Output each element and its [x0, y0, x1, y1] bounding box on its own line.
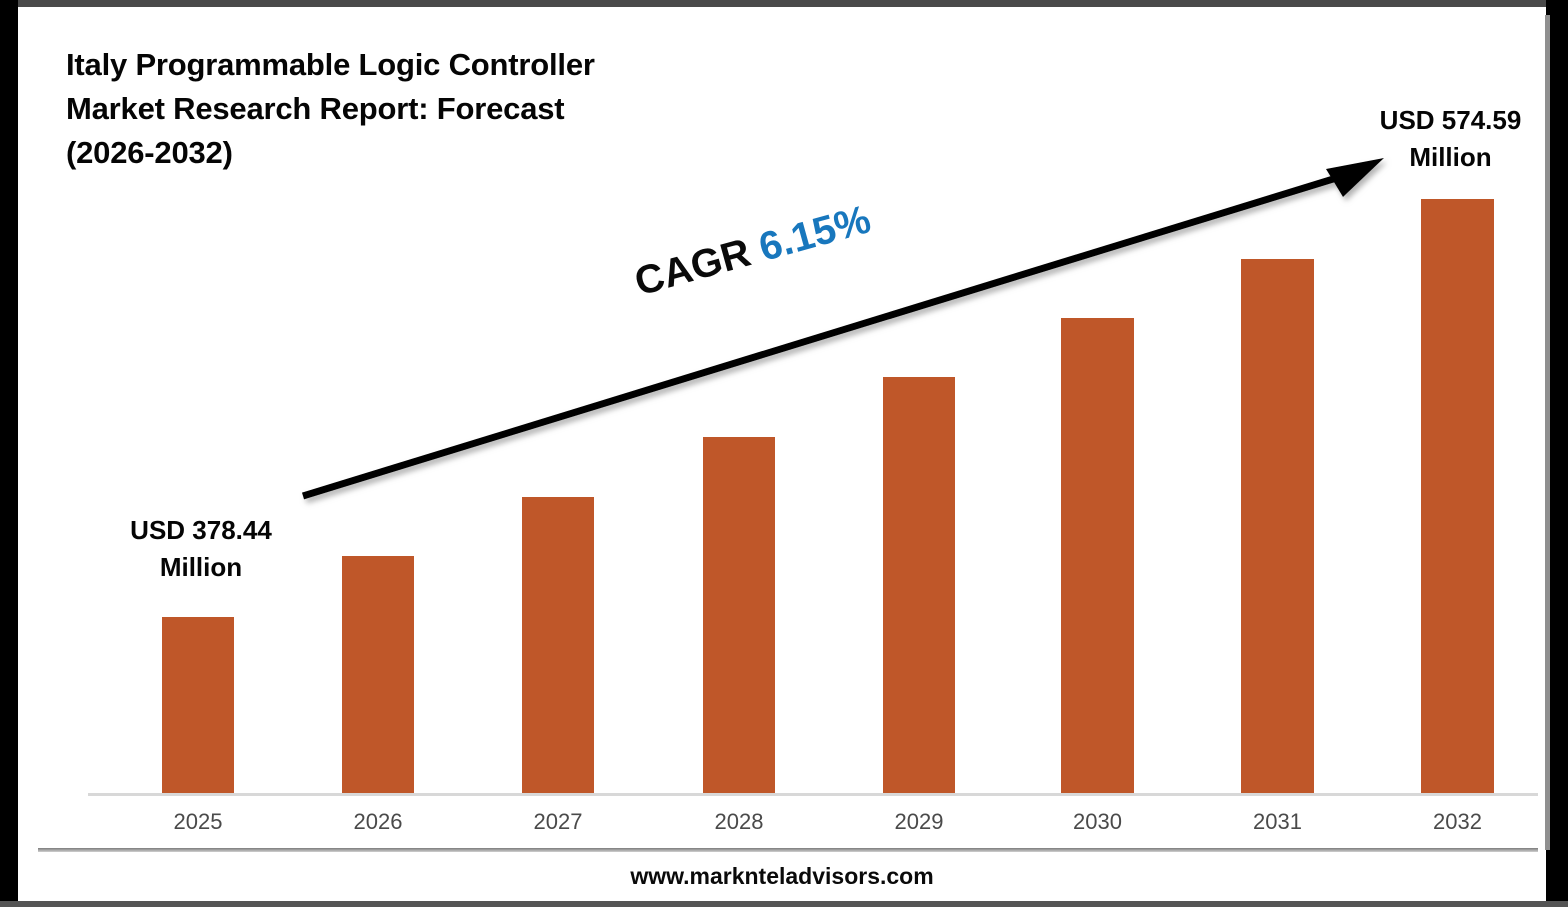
bar-2029 [883, 377, 955, 793]
bar-2032 [1421, 199, 1494, 793]
x-tick-label-2029: 2029 [859, 809, 979, 835]
bar-2025 [162, 617, 234, 793]
x-tick-label-2025: 2025 [138, 809, 258, 835]
frame-border-bottom [0, 901, 1568, 907]
bar-2031 [1241, 259, 1314, 793]
x-tick-label-2026: 2026 [318, 809, 438, 835]
chart-canvas: Italy Programmable Logic Controller Mark… [18, 7, 1546, 901]
x-axis-line [88, 793, 1538, 796]
bar-2026 [342, 556, 414, 793]
bar-2028 [703, 437, 775, 793]
x-tick-label-2031: 2031 [1218, 809, 1338, 835]
x-tick-label-2028: 2028 [679, 809, 799, 835]
chart-panel: Italy Programmable Logic Controller Mark… [18, 7, 1546, 848]
bar-2030 [1061, 318, 1134, 793]
x-tick-label-2027: 2027 [498, 809, 618, 835]
x-tick-label-2030: 2030 [1038, 809, 1158, 835]
frame-border-left [0, 0, 18, 907]
frame-border-top [0, 0, 1568, 7]
x-tick-label-2032: 2032 [1398, 809, 1518, 835]
footer-source-url: www.marknteladvisors.com [18, 863, 1546, 890]
plot-area: 20252026202720282029203020312032 [18, 7, 1546, 848]
bar-2027 [522, 497, 594, 793]
chart-image-root: Italy Programmable Logic Controller Mark… [0, 0, 1568, 907]
footer-divider [38, 848, 1538, 852]
